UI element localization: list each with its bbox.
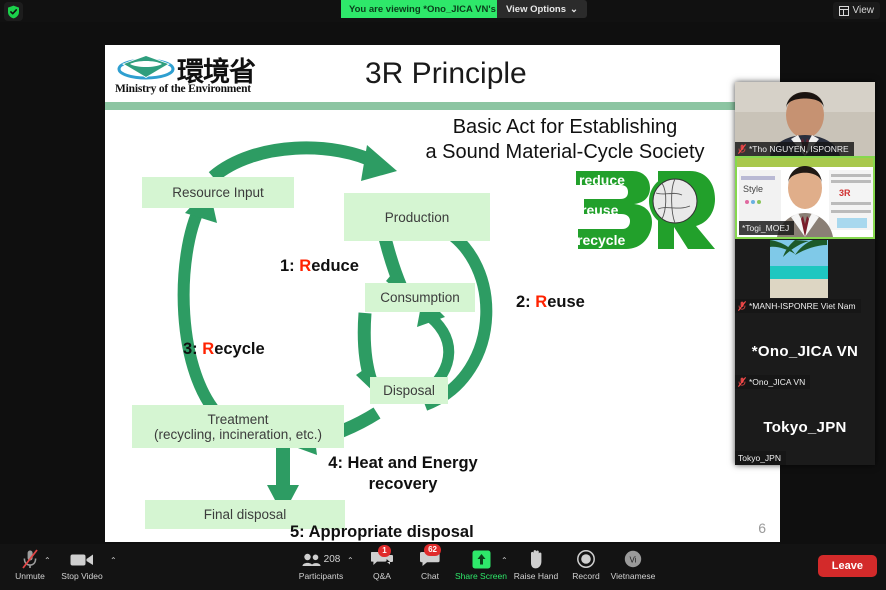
chat-bubble-icon: 62	[420, 548, 440, 570]
box-production: Production	[344, 193, 490, 241]
share-screen-label: Share Screen	[455, 571, 507, 581]
video-tile-ono-jica-vn[interactable]: *Ono_JICA VN *Ono_JICA VN	[735, 313, 875, 389]
video-tile-tho-nguyen[interactable]: *Tho NGUYEN, ISPONRE	[735, 82, 875, 156]
label-recycle: 3: Recycle	[183, 340, 265, 359]
label-reduce-rest: educe	[311, 257, 359, 275]
participants-icon: 208	[302, 548, 341, 570]
box-disposal: Disposal	[370, 377, 448, 404]
video-tile-name-tokyo-jpn: Tokyo_JPN	[735, 451, 786, 465]
box-treatment-line2: (recycling, incineration, etc.)	[154, 427, 322, 442]
label-recycle-rest: ecycle	[214, 340, 264, 358]
globe-vi-icon: Vi	[624, 548, 642, 570]
video-tile-name-manh-isponre: *MANH-ISPONRE Viet Nam	[735, 299, 861, 313]
interpretation-label: Vietnamese	[611, 571, 656, 581]
label-recycle-num: 3:	[183, 340, 202, 358]
name-label: Tokyo_JPN	[738, 453, 781, 463]
box-resource-input: Resource Input	[142, 177, 294, 208]
video-tile-tokyo-jpn[interactable]: Tokyo_JPN Tokyo_JPN	[735, 389, 875, 465]
box-treatment: Treatment (recycling, incineration, etc.…	[132, 405, 344, 448]
svg-text:Vi: Vi	[630, 555, 637, 564]
video-tile-name-ono-jica-vn: *Ono_JICA VN	[735, 375, 810, 389]
participants-count: 208	[324, 554, 341, 565]
record-icon	[577, 548, 595, 570]
chevron-down-icon: ⌄	[570, 4, 578, 15]
name-label: *MANH-ISPONRE Viet Nam	[749, 301, 856, 311]
label-reuse-rest: euse	[547, 293, 585, 311]
label-reduce-r: R	[299, 257, 311, 275]
video-tile-name-tho-nguyen: *Tho NGUYEN, ISPONRE	[735, 142, 854, 156]
svg-text:3R: 3R	[839, 188, 851, 198]
label-reduce: 1: Reduce	[280, 257, 359, 276]
video-tile-name-togi-moej: *Togi_MOEJ	[739, 221, 794, 235]
label-heat-energy: 4: Heat and Energy recovery	[308, 453, 498, 495]
mic-muted-icon	[738, 144, 746, 154]
qa-bubble-icon: 1	[371, 548, 393, 570]
label-reduce-num: 1:	[280, 257, 299, 275]
label-heat-energy-line1: 4: Heat and Energy	[308, 453, 498, 474]
qa-badge: 1	[378, 545, 391, 557]
view-options-label: View Options	[506, 4, 566, 15]
box-treatment-line1: Treatment	[207, 412, 268, 427]
share-screen-icon	[472, 548, 491, 570]
grid-view-icon	[839, 6, 849, 16]
record-label: Record	[572, 571, 599, 581]
label-heat-energy-line2: recovery	[308, 474, 498, 495]
name-label: *Tho NGUYEN, ISPONRE	[749, 144, 849, 154]
meeting-toolbar: Unmute ⌃ Stop Video ⌃ 208 Participants ⌃	[0, 544, 886, 590]
leave-button[interactable]: Leave	[818, 555, 877, 577]
box-consumption: Consumption	[365, 283, 475, 312]
shield-check-icon	[7, 5, 20, 19]
mic-muted-icon	[738, 301, 746, 311]
label-reuse-r: R	[535, 293, 547, 311]
stop-video-button[interactable]: Stop Video	[52, 548, 112, 581]
interpretation-button[interactable]: Vi Vietnamese	[603, 548, 663, 581]
shared-screen-slide[interactable]: 環境省 Ministry of the Environment 3R Princ…	[105, 45, 780, 542]
view-layout-button[interactable]: View	[833, 2, 881, 19]
name-label: *Ono_JICA VN	[749, 377, 805, 387]
video-tile-manh-isponre[interactable]: *MANH-ISPONRE Viet Nam	[735, 239, 875, 313]
mic-muted-icon	[738, 377, 746, 387]
slide-page-number: 6	[758, 520, 766, 536]
participants-label: Participants	[299, 571, 343, 581]
unmute-label: Unmute	[15, 571, 45, 581]
label-reuse: 2: Reuse	[516, 293, 585, 312]
view-options-button[interactable]: View Options ⌄	[497, 0, 587, 18]
chat-badge: 62	[424, 544, 441, 556]
view-label: View	[853, 5, 875, 16]
encryption-shield-button[interactable]	[4, 2, 23, 21]
label-recycle-r: R	[202, 340, 214, 358]
video-options-caret[interactable]: ⌃	[110, 556, 117, 565]
video-tile-togi-moej[interactable]: Style 3R *Togi_MOEJ	[735, 156, 875, 239]
audio-options-caret[interactable]: ⌃	[44, 556, 51, 565]
camera-icon	[70, 548, 94, 570]
chat-label: Chat	[421, 571, 439, 581]
qa-label: Q&A	[373, 571, 391, 581]
name-label: *Togi_MOEJ	[742, 223, 789, 233]
unmute-button[interactable]: Unmute	[0, 548, 60, 581]
participant-video-panel[interactable]: *Tho NGUYEN, ISPONRE Style 3R *Togi_MOEJ	[735, 82, 875, 465]
raise-hand-icon	[528, 548, 544, 570]
mic-muted-icon	[22, 548, 38, 570]
svg-text:Style: Style	[743, 184, 763, 194]
label-appropriate-disposal: 5: Appropriate disposal	[290, 523, 474, 542]
label-reuse-num: 2:	[516, 293, 535, 311]
raise-hand-label: Raise Hand	[514, 571, 558, 581]
stop-video-label: Stop Video	[61, 571, 102, 581]
top-bar: You are viewing *Ono_JICA VN's screen Vi…	[0, 0, 886, 22]
participants-button[interactable]: 208 Participants	[290, 548, 352, 581]
